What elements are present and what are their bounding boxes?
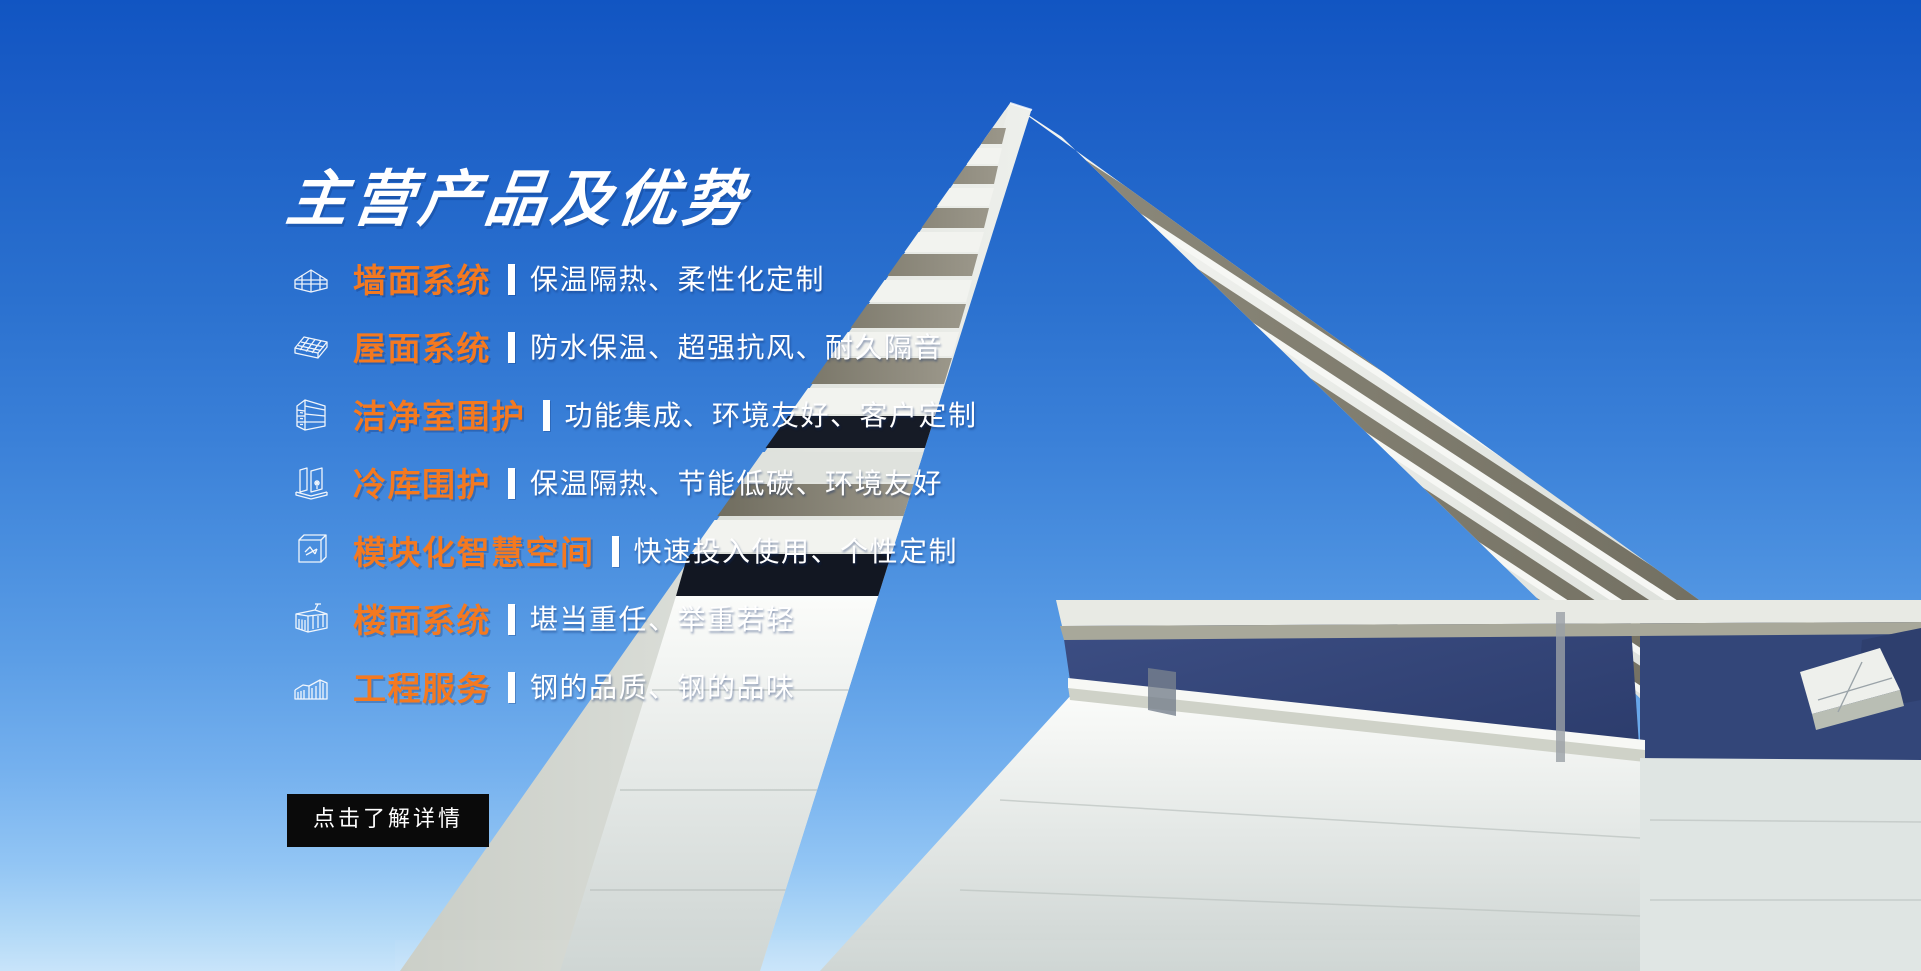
cleanroom-icon <box>291 394 331 434</box>
list-item-description: 堪当重任、举重若轻 <box>530 598 796 638</box>
list-item[interactable]: 屋面系统 防水保温、超强抗风、耐久隔音 <box>287 312 1107 380</box>
modular-space-icon <box>291 530 331 570</box>
list-item[interactable]: 工程服务 钢的品质、钢的品味 <box>287 652 1107 720</box>
separator-bar <box>508 604 515 635</box>
separator-bar <box>508 468 515 499</box>
hero-content: 主营产品及优势 墙面系统 保温隔热、柔性化定制 <box>0 0 1100 971</box>
list-item-description: 钢的品质、钢的品味 <box>530 666 796 706</box>
list-item-label: 工程服务 <box>353 662 491 710</box>
list-item[interactable]: 墙面系统 保温隔热、柔性化定制 <box>287 244 1107 312</box>
list-item-description: 功能集成、环境友好、客户定制 <box>565 394 978 434</box>
separator-bar <box>508 672 515 703</box>
list-item-label: 楼面系统 <box>353 594 491 642</box>
list-item-label: 墙面系统 <box>353 254 491 302</box>
list-item[interactable]: 冷库围护 保温隔热、节能低碳、环境友好 <box>287 448 1107 516</box>
learn-more-button[interactable]: 点击了解详情 <box>287 794 489 847</box>
list-item-label: 屋面系统 <box>353 322 491 370</box>
list-item-description: 快速投入使用、个性定制 <box>634 530 959 570</box>
separator-bar <box>508 264 515 295</box>
list-item[interactable]: 楼面系统 堪当重任、举重若轻 <box>287 584 1107 652</box>
list-item-label: 洁净室围护 <box>353 390 526 438</box>
list-item[interactable]: 模块化智慧空间 快速投入使用、个性定制 <box>287 516 1107 584</box>
list-item-label: 模块化智慧空间 <box>353 526 595 574</box>
product-list: 墙面系统 保温隔热、柔性化定制 屋面系统 防水保温、超强抗风、耐久隔音 <box>287 244 1107 720</box>
list-item[interactable]: 洁净室围护 功能集成、环境友好、客户定制 <box>287 380 1107 448</box>
cold-storage-icon <box>291 462 331 502</box>
separator-bar <box>508 332 515 363</box>
list-item-description: 防水保温、超强抗风、耐久隔音 <box>530 326 943 366</box>
wall-system-icon <box>291 258 331 298</box>
engineering-icon <box>291 666 331 706</box>
separator-bar <box>612 536 619 567</box>
list-item-description: 保温隔热、柔性化定制 <box>530 258 825 298</box>
roof-system-icon <box>291 326 331 366</box>
page-title: 主营产品及优势 <box>283 168 753 232</box>
list-item-label: 冷库围护 <box>353 458 491 506</box>
hero-banner: 主营产品及优势 墙面系统 保温隔热、柔性化定制 <box>0 0 1921 971</box>
list-item-description: 保温隔热、节能低碳、环境友好 <box>530 462 943 502</box>
separator-bar <box>543 400 550 431</box>
floor-system-icon <box>291 598 331 638</box>
